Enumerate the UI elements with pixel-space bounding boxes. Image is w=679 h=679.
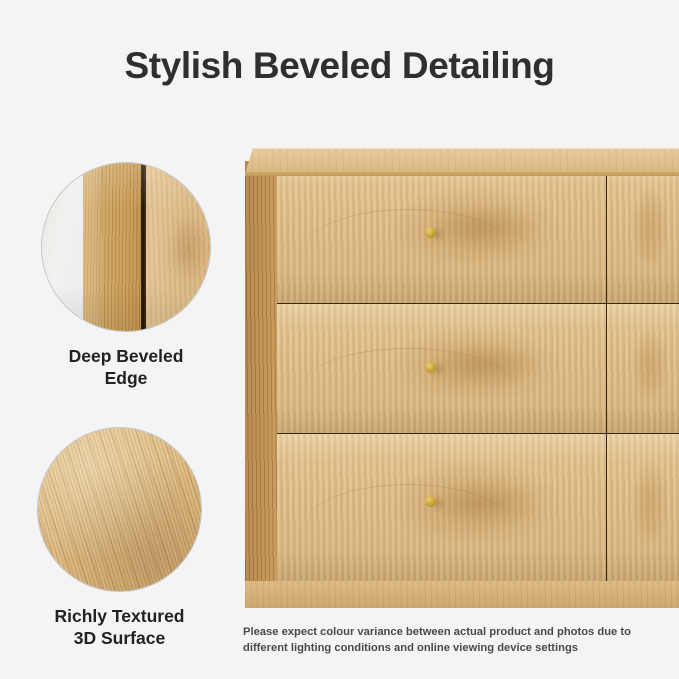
callout-label-richly-textured-3d-surface: Richly Textured 3D Surface <box>38 605 201 649</box>
callout-deep-beveled-edge: Deep Beveled Edge <box>42 163 210 389</box>
drawer-knob-icon <box>425 362 436 373</box>
drawer-front <box>277 434 607 581</box>
callout-richly-textured-3d-surface: Richly Textured 3D Surface <box>38 428 201 649</box>
drawer-shading <box>607 304 679 433</box>
drawer-front <box>607 161 679 303</box>
drawer-shading <box>607 161 679 303</box>
dresser-drawer-bank <box>277 161 679 581</box>
page-title: Stylish Beveled Detailing <box>0 45 679 87</box>
drawer-front <box>277 161 607 303</box>
drawer-shading <box>607 434 679 581</box>
drawer-shading <box>277 434 606 581</box>
dresser-side-panel <box>245 161 277 581</box>
drawer-front <box>607 304 679 433</box>
beveled-edge-macro-image <box>42 163 210 331</box>
infographic-page: Stylish Beveled Detailing Deep Beveled E… <box>0 0 679 679</box>
wood-shading-layer <box>38 428 201 591</box>
drawer-front <box>277 304 607 433</box>
bevel-gloss-overlay <box>42 163 210 331</box>
drawer-row <box>277 433 679 581</box>
drawer-knob-icon <box>425 496 436 507</box>
drawer-row <box>277 303 679 433</box>
drawer-knob-icon <box>425 227 436 238</box>
wood-texture-macro-image <box>38 428 201 591</box>
callout-label-line-2: 3D Surface <box>38 627 201 649</box>
dresser-top-surface <box>245 148 679 174</box>
drawer-shading <box>277 304 606 433</box>
drawer-front <box>607 434 679 581</box>
dresser-top-front-edge <box>245 172 679 176</box>
drawer-row <box>277 161 679 303</box>
callout-label-line-1: Deep Beveled <box>42 345 210 367</box>
drawer-shading <box>277 161 606 303</box>
callout-label-line-2: Edge <box>42 367 210 389</box>
callout-label-deep-beveled-edge: Deep Beveled Edge <box>42 345 210 389</box>
colour-variance-disclaimer: Please expect colour variance between ac… <box>243 625 643 657</box>
callout-label-line-1: Richly Textured <box>38 605 201 627</box>
product-photo-dresser <box>232 136 679 614</box>
